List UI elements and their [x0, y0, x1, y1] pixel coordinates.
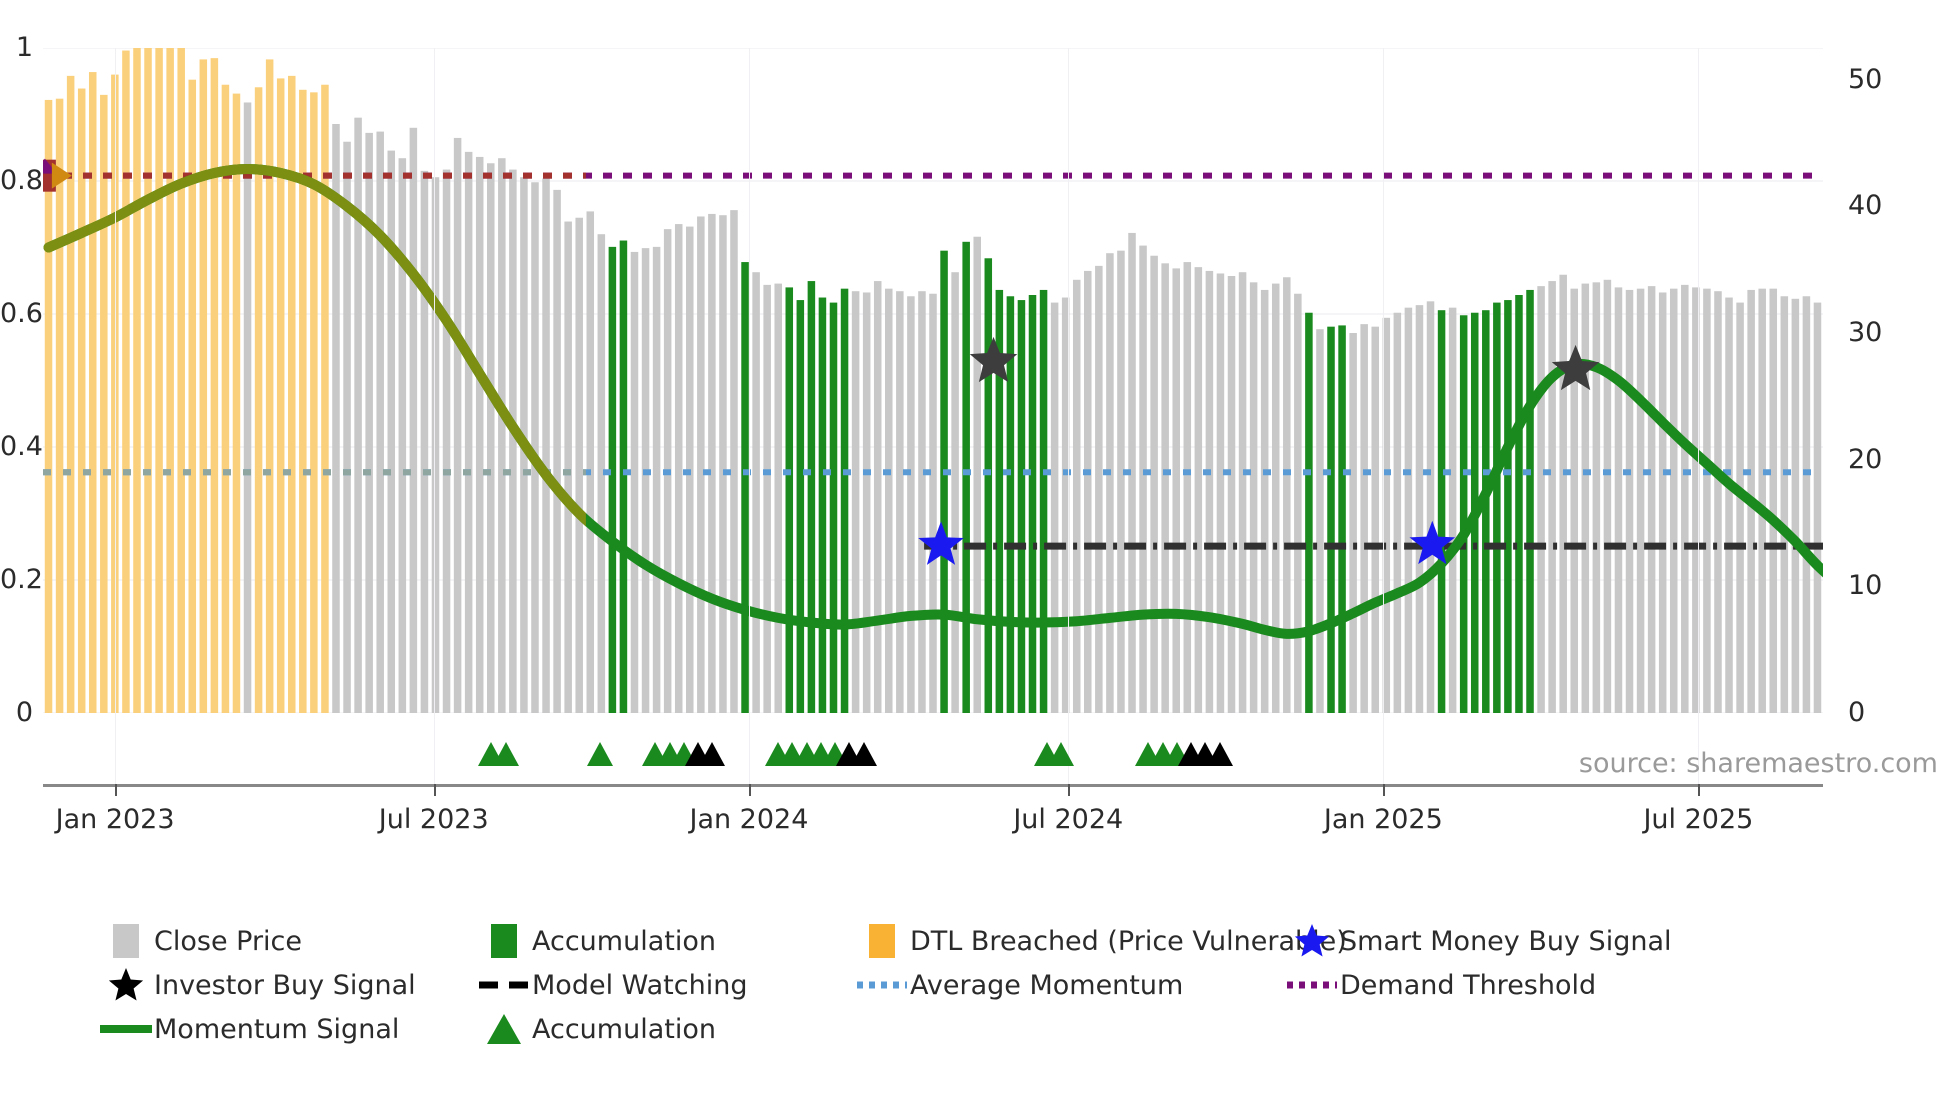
price-bar [1681, 285, 1689, 713]
price-bar [211, 58, 219, 713]
left-y-tick-1: 0.2 [0, 566, 33, 593]
price-bar [1460, 315, 1468, 713]
price-bar [1493, 303, 1501, 713]
price-bar [1106, 253, 1114, 713]
price-bar [1582, 284, 1590, 713]
price-bar [177, 48, 185, 713]
price-bar [896, 291, 904, 713]
accumulation-triangle [1048, 742, 1074, 766]
accumulation-triangle [685, 742, 711, 766]
legend-symbol [854, 979, 910, 991]
price-bar [1648, 286, 1656, 713]
price-bar [388, 151, 396, 713]
price-bar [1659, 292, 1667, 713]
price-bar [1040, 290, 1048, 713]
legend-accumulation-bar-label: Accumulation [532, 928, 716, 955]
price-bar [321, 85, 329, 713]
price-bar [885, 289, 893, 713]
legend-accumulation-triangle[interactable]: Accumulation [476, 1014, 716, 1044]
legend-dotted-line-icon [856, 979, 908, 991]
left-y-tick-4: 0.8 [0, 167, 33, 194]
price-bar [1526, 290, 1534, 713]
price-bar [620, 241, 628, 713]
price-bar [741, 262, 749, 713]
price-bar [874, 281, 882, 713]
accumulation-triangle [851, 742, 877, 766]
price-bar [1416, 305, 1424, 713]
price-bar [144, 48, 152, 713]
price-bar [1294, 294, 1302, 713]
price-bar [1217, 273, 1225, 713]
price-bar [675, 224, 683, 713]
price-bar [841, 289, 849, 713]
x-gridline-0 [115, 48, 116, 784]
legend-triangle-icon [487, 1014, 521, 1044]
accumulation-triangle [1178, 742, 1204, 766]
price-bar [587, 211, 595, 713]
price-bar [1239, 272, 1247, 713]
price-bar [166, 48, 174, 713]
accumulation-triangle [1135, 742, 1161, 766]
price-bar [1548, 281, 1556, 713]
price-bar [67, 76, 75, 713]
legend-dotted-line-icon [1286, 979, 1338, 991]
price-bar [708, 214, 716, 713]
right-y-tick-2: 20 [1848, 446, 1882, 473]
legend-color-swatch [113, 924, 139, 958]
price-bar [1161, 263, 1169, 713]
accumulation-triangle [587, 742, 613, 766]
price-bar [564, 222, 572, 713]
legend-star-icon [1293, 922, 1331, 960]
x-tick-label-3: Jul 2024 [1013, 806, 1123, 833]
price-bar [122, 51, 130, 713]
accumulation-triangle [779, 742, 805, 766]
price-bar [1272, 284, 1280, 713]
legend-model-watching-label: Model Watching [532, 972, 747, 999]
price-bar [1615, 287, 1623, 713]
price-bar [907, 296, 915, 713]
price-bar [1537, 286, 1545, 713]
legend-accumulation-triangle-label: Accumulation [532, 1016, 716, 1043]
price-bar [498, 158, 506, 713]
accumulation-triangle [642, 742, 668, 766]
price-bar [1316, 329, 1324, 713]
price-bar [863, 292, 871, 713]
price-bar [1814, 303, 1822, 713]
price-bar [1184, 262, 1192, 713]
price-bar [1117, 251, 1125, 713]
price-bar [1150, 256, 1158, 713]
price-bar [752, 272, 760, 713]
legend-star-icon [107, 966, 145, 1004]
price-bar [1228, 276, 1236, 713]
price-bar [1073, 280, 1081, 713]
legend-investor-buy-signal[interactable]: Investor Buy Signal [98, 966, 476, 1004]
legend-accumulation-bar[interactable]: Accumulation [476, 924, 854, 958]
accumulation-triangle [478, 742, 504, 766]
price-bar [222, 85, 230, 713]
legend-row-2: Momentum SignalAccumulation [98, 1010, 1948, 1048]
x-tick-mark-3 [1068, 784, 1070, 796]
left-y-tick-2: 0.4 [0, 433, 33, 460]
legend-momentum-signal[interactable]: Momentum Signal [98, 1016, 476, 1043]
accumulation-triangle [836, 742, 862, 766]
price-bar [940, 251, 948, 713]
price-bar [255, 87, 263, 713]
legend-symbol [476, 978, 532, 992]
price-bar [399, 158, 407, 713]
legend-solid-line-icon [100, 1025, 152, 1033]
chart-legend: Close PriceAccumulationDTL Breached (Pri… [98, 922, 1948, 1054]
legend-model-watching[interactable]: Model Watching [476, 972, 854, 999]
price-bar [631, 252, 639, 713]
price-bar [1018, 300, 1026, 713]
price-bar [155, 48, 163, 713]
price-bar [1626, 290, 1634, 713]
price-bar [45, 100, 53, 713]
x-gridline-4 [1383, 48, 1384, 784]
plot-area [43, 48, 1823, 713]
price-bar [454, 138, 462, 713]
price-bar [233, 94, 241, 713]
legend-symbol [1284, 979, 1340, 991]
price-bar [1758, 289, 1766, 713]
price-bar [973, 237, 981, 713]
price-bar [1427, 301, 1435, 713]
price-bar [786, 287, 794, 713]
x-tick-label-5: Jul 2025 [1643, 806, 1753, 833]
price-bar [1515, 295, 1523, 713]
accumulation-triangle [1207, 742, 1233, 766]
accumulation-triangle [765, 742, 791, 766]
price-bar [376, 132, 384, 713]
right-y-tick-5: 50 [1848, 66, 1882, 93]
price-bar [1250, 282, 1258, 713]
price-bar [1449, 308, 1457, 713]
left-y-axis: 00.20.40.60.81 [0, 0, 43, 1102]
x-tick-mark-2 [749, 784, 751, 796]
price-bar [1394, 313, 1402, 713]
price-bar [697, 216, 705, 713]
left-y-tick-5: 1 [0, 34, 33, 61]
price-bar [542, 178, 550, 713]
price-bar [1769, 289, 1777, 713]
price-bar [89, 72, 97, 713]
price-bar [200, 59, 208, 713]
price-bar [133, 48, 141, 713]
price-bar [1438, 310, 1446, 713]
price-bar [1405, 308, 1413, 713]
price-bar [1349, 333, 1357, 713]
legend-average-momentum-label: Average Momentum [910, 972, 1183, 999]
price-bar [1261, 290, 1269, 713]
legend-symbol [1284, 922, 1340, 960]
price-bar [1725, 298, 1733, 713]
legend-row-1: Investor Buy SignalModel WatchingAverage… [98, 966, 1948, 1004]
x-tick-label-4: Jan 2025 [1324, 806, 1443, 833]
price-bar [1338, 325, 1346, 713]
price-bar [1029, 295, 1037, 713]
plot-clip [43, 48, 1823, 713]
x-gridline-1 [434, 48, 435, 784]
price-bar [1172, 268, 1180, 713]
legend-average-momentum[interactable]: Average Momentum [854, 972, 1284, 999]
right-y-tick-1: 10 [1848, 572, 1882, 599]
right-y-tick-3: 30 [1848, 319, 1882, 346]
price-bar [509, 170, 517, 713]
price-bar [951, 272, 959, 713]
price-bar [1604, 280, 1612, 713]
price-bar [1792, 299, 1800, 713]
price-bar [575, 218, 583, 713]
legend-symbol [476, 924, 532, 958]
accumulation-triangle [1150, 742, 1176, 766]
price-bar [1637, 289, 1645, 713]
accumulation-triangle [1164, 742, 1190, 766]
price-bar [465, 152, 473, 713]
price-bar [763, 285, 771, 713]
price-bar [1139, 246, 1147, 713]
price-bar [443, 170, 451, 713]
legend-symbol [476, 1014, 532, 1044]
price-bar [332, 124, 340, 713]
price-bar [1095, 266, 1103, 713]
legend-dashed-line-icon [478, 978, 530, 992]
legend-symbol [98, 966, 154, 1004]
price-bar [774, 284, 782, 713]
legend-dtl-breached-label: DTL Breached (Price Vulnerable) [910, 928, 1347, 955]
x-tick-label-1: Jul 2023 [379, 806, 489, 833]
price-bar [410, 128, 418, 713]
price-bar [1051, 303, 1059, 713]
price-bar [1482, 310, 1490, 713]
price-bar [1305, 313, 1313, 713]
accumulation-triangle [822, 742, 848, 766]
price-bar [929, 294, 937, 713]
accumulation-triangle [1192, 742, 1218, 766]
price-bar [1736, 303, 1744, 713]
right-y-tick-0: 0 [1848, 699, 1865, 726]
right-y-tick-4: 40 [1848, 192, 1882, 219]
price-bar [653, 247, 661, 713]
x-gridline-2 [749, 48, 750, 784]
accumulation-triangle [671, 742, 697, 766]
price-bar [1670, 289, 1678, 713]
accumulation-triangle [808, 742, 834, 766]
x-tick-mark-5 [1698, 784, 1700, 796]
price-bar [609, 247, 617, 713]
price-bar [1371, 327, 1379, 713]
legend-smart-money-buy-signal[interactable]: Smart Money Buy Signal [1284, 922, 1672, 960]
legend-symbol [854, 924, 910, 958]
legend-close-price-label: Close Price [154, 928, 302, 955]
left-y-tick-0: 0 [0, 699, 33, 726]
price-bar [343, 142, 351, 713]
legend-dtl-breached[interactable]: DTL Breached (Price Vulnerable) [854, 924, 1284, 958]
legend-symbol [98, 1025, 154, 1033]
price-bar [1803, 296, 1811, 713]
x-gridline-5 [1698, 48, 1699, 784]
legend-demand-threshold-label: Demand Threshold [1340, 972, 1596, 999]
legend-color-swatch [491, 924, 517, 958]
legend-row-0: Close PriceAccumulationDTL Breached (Pri… [98, 922, 1948, 960]
price-bar [56, 99, 64, 713]
price-bar [100, 95, 108, 713]
price-bar [1360, 324, 1368, 713]
price-bar [962, 242, 970, 713]
price-bar [1781, 296, 1789, 713]
price-bar [487, 163, 495, 713]
legend-investor-buy-signal-label: Investor Buy Signal [154, 972, 416, 999]
price-bar [852, 291, 860, 713]
accumulation-triangle [699, 742, 725, 766]
price-bar [830, 303, 838, 713]
legend-momentum-signal-label: Momentum Signal [154, 1016, 399, 1043]
price-bar [553, 190, 561, 713]
price-bar [642, 248, 650, 713]
price-bar [421, 171, 429, 713]
left-y-tick-3: 0.6 [0, 300, 33, 327]
x-tick-label-2: Jan 2024 [689, 806, 808, 833]
price-bar [1593, 282, 1601, 713]
price-bar [266, 59, 274, 713]
legend-symbol [98, 924, 154, 958]
accumulation-triangle [657, 742, 683, 766]
price-bar [1504, 300, 1512, 713]
x-tick-mark-1 [434, 784, 436, 796]
price-bar [1084, 271, 1092, 713]
price-bar [1283, 277, 1291, 713]
price-bar [719, 215, 727, 713]
price-bar [1206, 271, 1214, 713]
legend-color-swatch [869, 924, 895, 958]
price-bar [985, 258, 993, 713]
x-tick-label-0: Jan 2023 [56, 806, 175, 833]
legend-smart-money-buy-signal-label: Smart Money Buy Signal [1340, 928, 1672, 955]
chart-root: 00.20.40.60.81 01020304050 Jan 2023Jul 2… [0, 0, 1960, 1102]
price-bar [476, 157, 484, 713]
price-bar [808, 281, 816, 713]
price-bar [244, 102, 252, 713]
x-tick-mark-0 [115, 784, 117, 796]
price-bar [819, 298, 827, 713]
accumulation-triangle [1034, 742, 1060, 766]
price-bar [1714, 291, 1722, 713]
price-bar [1703, 289, 1711, 713]
x-axis-line [43, 784, 1823, 787]
accumulation-triangle [493, 742, 519, 766]
price-bar [78, 89, 86, 713]
x-gridline-3 [1068, 48, 1069, 784]
price-bar [797, 300, 805, 713]
x-tick-mark-4 [1383, 784, 1385, 796]
legend-demand-threshold[interactable]: Demand Threshold [1284, 972, 1596, 999]
price-bar [1559, 275, 1567, 713]
price-bar [730, 210, 738, 713]
chart-canvas [43, 48, 1823, 713]
price-bar [918, 291, 926, 713]
accumulation-triangle [794, 742, 820, 766]
price-bar [1327, 327, 1335, 713]
source-attribution: source: sharemaestro.com [1579, 750, 1938, 777]
price-bar [1195, 267, 1203, 713]
legend-close-price[interactable]: Close Price [98, 924, 476, 958]
